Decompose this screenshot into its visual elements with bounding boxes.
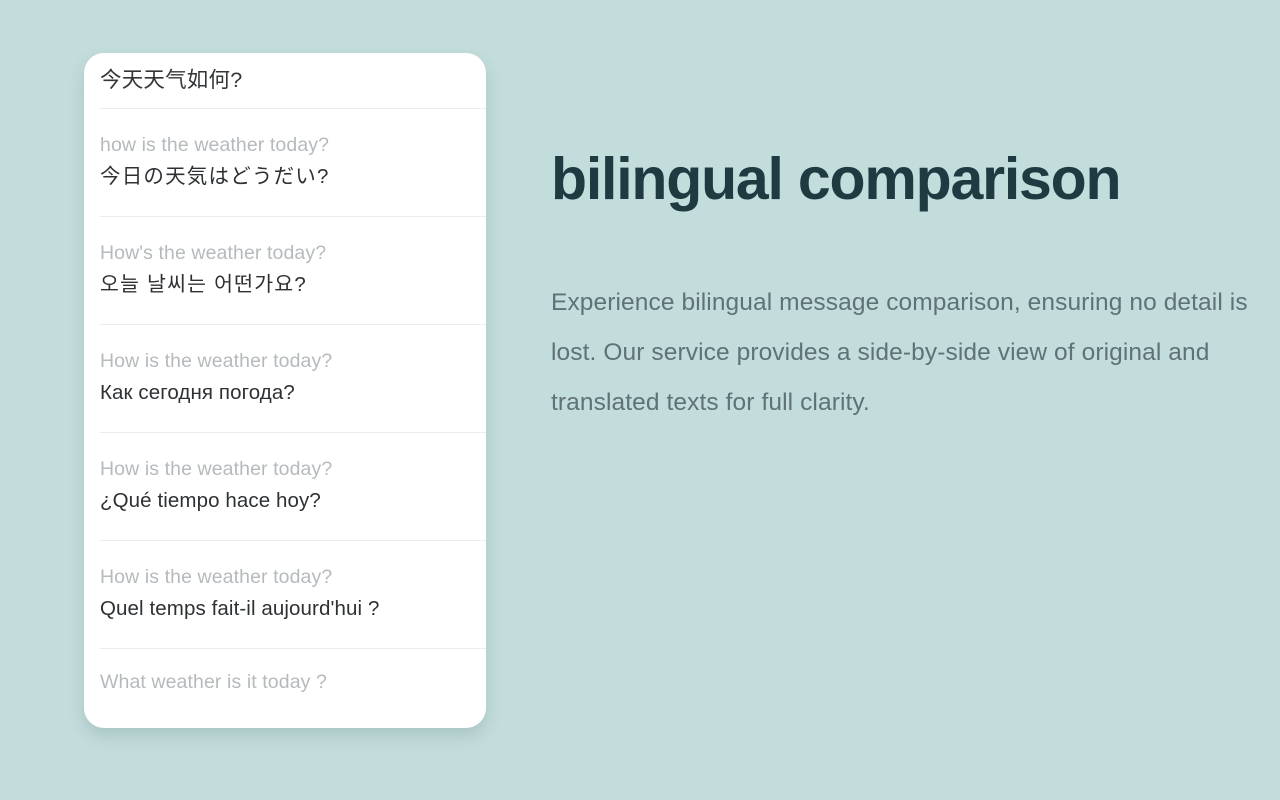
translated-text: 今日の天気はどうだい? xyxy=(100,165,486,190)
translation-row-2[interactable]: How's the weather today? 오늘 날씨는 어떤가요? xyxy=(84,216,486,324)
translated-text: ¿Qué tiempo hace hoy? xyxy=(100,489,486,514)
translated-text: 오늘 날씨는 어떤가요? xyxy=(100,273,486,298)
original-text: What weather is it today ? xyxy=(100,671,486,693)
original-text: How is the weather today? xyxy=(100,566,486,588)
translation-row-5[interactable]: How is the weather today? Quel temps fai… xyxy=(84,540,486,648)
bilingual-comparison-card: 今天天气如何? how is the weather today? 今日の天気は… xyxy=(84,53,486,728)
source-message-text: 今天天气如何? xyxy=(100,68,242,94)
content-column: bilingual comparison Experience bilingua… xyxy=(551,148,1263,428)
original-text: How is the weather today? xyxy=(100,350,486,372)
original-text: How is the weather today? xyxy=(100,458,486,480)
translation-row-3[interactable]: How is the weather today? Как сегодня по… xyxy=(84,324,486,432)
page-title: bilingual comparison xyxy=(551,148,1263,212)
description-paragraph: Experience bilingual message comparison,… xyxy=(551,212,1251,428)
translation-row-6[interactable]: What weather is it today ? xyxy=(84,648,486,728)
translated-text: Quel temps fait-il aujourd'hui ? xyxy=(100,597,486,622)
card-content: 今天天气如何? how is the weather today? 今日の天気は… xyxy=(84,53,486,728)
original-text: How's the weather today? xyxy=(100,242,486,264)
page-root: 今天天气如何? how is the weather today? 今日の天気は… xyxy=(0,0,1280,800)
translation-row-4[interactable]: How is the weather today? ¿Qué tiempo ha… xyxy=(84,432,486,540)
translation-row-1[interactable]: how is the weather today? 今日の天気はどうだい? xyxy=(84,108,486,216)
translated-text: Как сегодня погода? xyxy=(100,381,486,406)
original-text: how is the weather today? xyxy=(100,134,486,156)
card-header-source-row: 今天天气如何? xyxy=(84,53,486,108)
